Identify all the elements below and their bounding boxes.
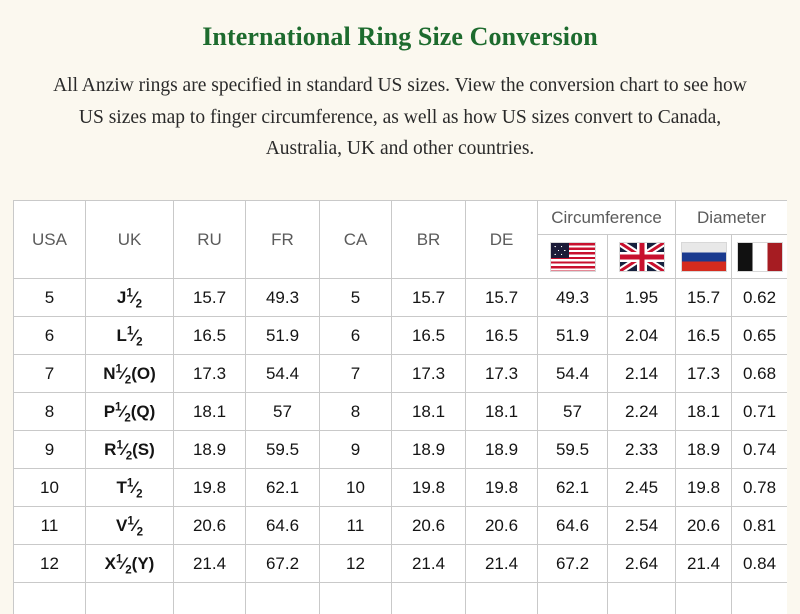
cell-circumference-mm: 64.6 <box>538 507 608 545</box>
cell-usa: 11 <box>14 507 86 545</box>
cell-empty <box>676 583 732 614</box>
table-row: 9R1⁄2(S)18.959.5918.918.959.52.3318.90.7… <box>14 431 788 469</box>
flag-cell-usa <box>538 235 608 279</box>
cell-usa: 7 <box>14 355 86 393</box>
flag-russia-icon <box>681 242 727 272</box>
cell-circumference-inch: 2.33 <box>608 431 676 469</box>
cell-ru: 18.9 <box>174 431 246 469</box>
cell-ca: 12 <box>320 545 392 583</box>
cell-ca: 5 <box>320 279 392 317</box>
col-header-br: BR <box>392 201 466 279</box>
cell-br: 17.3 <box>392 355 466 393</box>
cell-circumference-inch: 2.54 <box>608 507 676 545</box>
cell-circumference-inch: 2.24 <box>608 393 676 431</box>
cell-uk: N1⁄2(O) <box>86 355 174 393</box>
table-row: 8P1⁄2(Q)18.157818.118.1572.2418.10.71 <box>14 393 788 431</box>
cell-fr: 62.1 <box>246 469 320 507</box>
table-row-partial <box>14 583 788 614</box>
cell-diameter-mm: 18.9 <box>676 431 732 469</box>
cell-circumference-mm: 67.2 <box>538 545 608 583</box>
flag-cell-ru <box>676 235 732 279</box>
flag-france-icon <box>737 242 783 272</box>
cell-uk: R1⁄2(S) <box>86 431 174 469</box>
cell-empty <box>732 583 787 614</box>
cell-de: 18.1 <box>466 393 538 431</box>
col-header-uk: UK <box>86 201 174 279</box>
cell-circumference-mm: 49.3 <box>538 279 608 317</box>
cell-fr: 67.2 <box>246 545 320 583</box>
cell-uk: L1⁄2 <box>86 317 174 355</box>
ring-size-conversion-table: USA UK RU FR CA BR DE Circumference Diam… <box>13 200 787 614</box>
cell-uk: J1⁄2 <box>86 279 174 317</box>
cell-ru: 15.7 <box>174 279 246 317</box>
cell-de: 20.6 <box>466 507 538 545</box>
ring-size-conversion-page: International Ring Size Conversion All A… <box>0 0 800 614</box>
conversion-table-container: USA UK RU FR CA BR DE Circumference Diam… <box>13 200 787 614</box>
cell-uk: V1⁄2 <box>86 507 174 545</box>
cell-empty <box>392 583 466 614</box>
cell-diameter-inch: 0.71 <box>732 393 787 431</box>
cell-usa: 9 <box>14 431 86 469</box>
table-row: 6L1⁄216.551.9616.516.551.92.0416.50.65 <box>14 317 788 355</box>
cell-circumference-mm: 62.1 <box>538 469 608 507</box>
cell-br: 18.1 <box>392 393 466 431</box>
cell-fr: 54.4 <box>246 355 320 393</box>
cell-diameter-inch: 0.78 <box>732 469 787 507</box>
cell-ca: 7 <box>320 355 392 393</box>
cell-empty <box>86 583 174 614</box>
cell-fr: 57 <box>246 393 320 431</box>
cell-circumference-mm: 54.4 <box>538 355 608 393</box>
cell-circumference-inch: 1.95 <box>608 279 676 317</box>
cell-de: 19.8 <box>466 469 538 507</box>
cell-diameter-inch: 0.81 <box>732 507 787 545</box>
cell-usa: 5 <box>14 279 86 317</box>
cell-uk: T1⁄2 <box>86 469 174 507</box>
cell-circumference-mm: 51.9 <box>538 317 608 355</box>
cell-ru: 17.3 <box>174 355 246 393</box>
cell-ca: 9 <box>320 431 392 469</box>
cell-diameter-mm: 21.4 <box>676 545 732 583</box>
table-body: 5J1⁄215.749.3515.715.749.31.9515.70.626L… <box>14 279 788 614</box>
col-header-usa: USA <box>14 201 86 279</box>
cell-usa: 8 <box>14 393 86 431</box>
cell-diameter-mm: 20.6 <box>676 507 732 545</box>
cell-ca: 11 <box>320 507 392 545</box>
cell-circumference-inch: 2.04 <box>608 317 676 355</box>
cell-circumference-mm: 59.5 <box>538 431 608 469</box>
cell-ru: 21.4 <box>174 545 246 583</box>
table-row: 11V1⁄220.664.61120.620.664.62.5420.60.81 <box>14 507 788 545</box>
cell-diameter-mm: 15.7 <box>676 279 732 317</box>
flag-uk-icon <box>619 242 665 272</box>
page-title: International Ring Size Conversion <box>0 0 800 52</box>
cell-fr: 51.9 <box>246 317 320 355</box>
cell-ru: 20.6 <box>174 507 246 545</box>
table-row: 12X1⁄2(Y)21.467.21221.421.467.22.6421.40… <box>14 545 788 583</box>
col-header-fr: FR <box>246 201 320 279</box>
cell-de: 18.9 <box>466 431 538 469</box>
header-label-row: USA UK RU FR CA BR DE Circumference Diam… <box>14 201 788 235</box>
cell-diameter-mm: 16.5 <box>676 317 732 355</box>
cell-empty <box>466 583 538 614</box>
cell-ca: 6 <box>320 317 392 355</box>
cell-de: 21.4 <box>466 545 538 583</box>
cell-br: 18.9 <box>392 431 466 469</box>
cell-circumference-inch: 2.14 <box>608 355 676 393</box>
cell-br: 16.5 <box>392 317 466 355</box>
table-row: 5J1⁄215.749.3515.715.749.31.9515.70.62 <box>14 279 788 317</box>
cell-circumference-inch: 2.64 <box>608 545 676 583</box>
cell-diameter-inch: 0.74 <box>732 431 787 469</box>
cell-de: 17.3 <box>466 355 538 393</box>
cell-diameter-mm: 19.8 <box>676 469 732 507</box>
cell-br: 20.6 <box>392 507 466 545</box>
cell-de: 16.5 <box>466 317 538 355</box>
cell-usa: 12 <box>14 545 86 583</box>
cell-ca: 8 <box>320 393 392 431</box>
cell-empty <box>174 583 246 614</box>
cell-fr: 59.5 <box>246 431 320 469</box>
flag-usa-icon <box>550 242 596 272</box>
cell-uk: P1⁄2(Q) <box>86 393 174 431</box>
flag-cell-uk <box>608 235 676 279</box>
cell-ru: 19.8 <box>174 469 246 507</box>
table-row: 7N1⁄2(O)17.354.4717.317.354.42.1417.30.6… <box>14 355 788 393</box>
cell-circumference-inch: 2.45 <box>608 469 676 507</box>
cell-br: 15.7 <box>392 279 466 317</box>
cell-de: 15.7 <box>466 279 538 317</box>
cell-usa: 10 <box>14 469 86 507</box>
cell-ru: 18.1 <box>174 393 246 431</box>
cell-empty <box>246 583 320 614</box>
cell-empty <box>538 583 608 614</box>
cell-fr: 49.3 <box>246 279 320 317</box>
cell-br: 19.8 <box>392 469 466 507</box>
col-header-diameter: Diameter <box>676 201 787 235</box>
cell-circumference-mm: 57 <box>538 393 608 431</box>
intro-paragraph: All Anziw rings are specified in standar… <box>40 70 760 165</box>
col-header-ca: CA <box>320 201 392 279</box>
cell-empty <box>14 583 86 614</box>
col-header-circumference: Circumference <box>538 201 676 235</box>
cell-empty <box>320 583 392 614</box>
col-header-de: DE <box>466 201 538 279</box>
cell-diameter-mm: 17.3 <box>676 355 732 393</box>
cell-diameter-inch: 0.62 <box>732 279 787 317</box>
cell-diameter-inch: 0.84 <box>732 545 787 583</box>
cell-ca: 10 <box>320 469 392 507</box>
cell-br: 21.4 <box>392 545 466 583</box>
col-header-ru: RU <box>174 201 246 279</box>
cell-uk: X1⁄2(Y) <box>86 545 174 583</box>
cell-diameter-mm: 18.1 <box>676 393 732 431</box>
cell-ru: 16.5 <box>174 317 246 355</box>
cell-fr: 64.6 <box>246 507 320 545</box>
table-head: USA UK RU FR CA BR DE Circumference Diam… <box>14 201 788 279</box>
cell-diameter-inch: 0.68 <box>732 355 787 393</box>
table-row: 10T1⁄219.862.11019.819.862.12.4519.80.78 <box>14 469 788 507</box>
cell-empty <box>608 583 676 614</box>
cell-usa: 6 <box>14 317 86 355</box>
cell-diameter-inch: 0.65 <box>732 317 787 355</box>
flag-cell-fr <box>732 235 787 279</box>
